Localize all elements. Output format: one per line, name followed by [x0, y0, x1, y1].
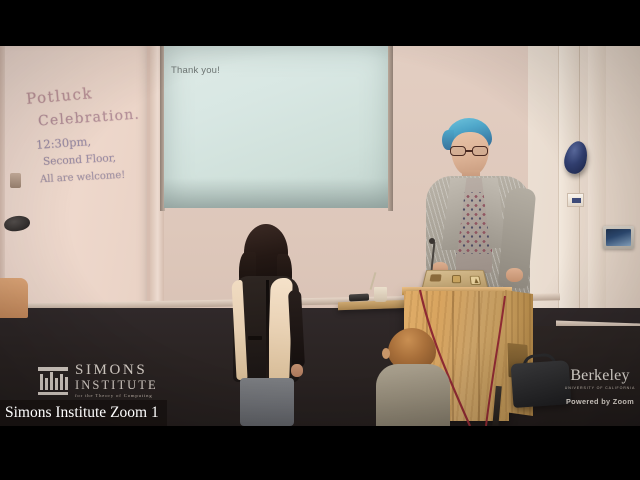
wall-plate — [567, 193, 584, 207]
attendee-jeans — [240, 378, 294, 426]
screen-shadow — [164, 178, 390, 208]
participant-name-text: Simons Institute Zoom 1 — [5, 404, 159, 422]
participant-name-label: Simons Institute Zoom 1 — [0, 400, 167, 426]
touch-panel-screen — [606, 229, 631, 246]
seated-attendee-body — [376, 364, 450, 426]
presenter-hand-right — [506, 268, 523, 282]
berkeley-subtitle: UNIVERSITY OF CALIFORNIA — [562, 386, 638, 390]
av-touch-panel[interactable] — [603, 226, 634, 249]
whiteboard-line-2: Celebration. — [38, 106, 141, 129]
whiteboard: Potluck Celebration. 12:30pm, Second Flo… — [0, 46, 150, 308]
berkeley-watermark: Berkeley UNIVERSITY OF CALIFORNIA Powere… — [562, 368, 638, 406]
seated-attendee — [378, 328, 450, 426]
drink-cup — [374, 287, 387, 302]
microphone-icon — [429, 238, 435, 244]
door-handle — [10, 173, 21, 188]
standing-attendee — [228, 224, 306, 426]
slide-text: Thank you! — [171, 65, 220, 76]
whiteboard-line-1: Potluck — [25, 84, 93, 108]
attendee-arm — [288, 290, 305, 369]
whiteboard-line-3: 12:30pm, — [36, 134, 92, 152]
simons-name-line2: INSTITUTE — [75, 379, 158, 392]
whiteboard-eraser — [3, 214, 31, 232]
table-remote — [349, 293, 369, 301]
letterbox-bottom — [0, 426, 640, 480]
simons-tagline: for the Theory of Computing — [75, 394, 158, 399]
right-wall-panel — [528, 46, 640, 346]
simons-institute-watermark: SIMONS INSTITUTE for the Theory of Compu… — [38, 361, 168, 401]
video-frame: Potluck Celebration. 12:30pm, Second Flo… — [0, 46, 640, 426]
seated-attendee-ear — [382, 348, 390, 359]
screen-right-edge — [388, 46, 393, 211]
whiteboard-left-edge — [0, 46, 5, 308]
letterbox-top — [0, 0, 640, 46]
laptop-sticker — [452, 275, 461, 283]
berkeley-name: Berkeley — [562, 368, 638, 384]
simons-name-line1: SIMONS — [75, 363, 158, 378]
laptop-sticker — [470, 276, 482, 285]
zoom-video-stage: Potluck Celebration. 12:30pm, Second Flo… — [0, 0, 640, 480]
simons-building-icon — [38, 367, 68, 395]
attendee-hand — [291, 364, 303, 377]
jacket-pocket — [248, 336, 262, 340]
laptop-sticker — [430, 274, 442, 281]
whiteboard-line-4: Second Floor, — [43, 152, 116, 168]
powered-by-zoom-label: Powered by Zoom — [562, 397, 638, 406]
presenter-glasses — [449, 146, 491, 156]
whiteboard-line-5: All are welcome! — [40, 170, 126, 185]
right-wall-column-secondary — [588, 46, 606, 346]
jacket-seam — [266, 280, 269, 382]
floor-object-left — [0, 278, 28, 318]
